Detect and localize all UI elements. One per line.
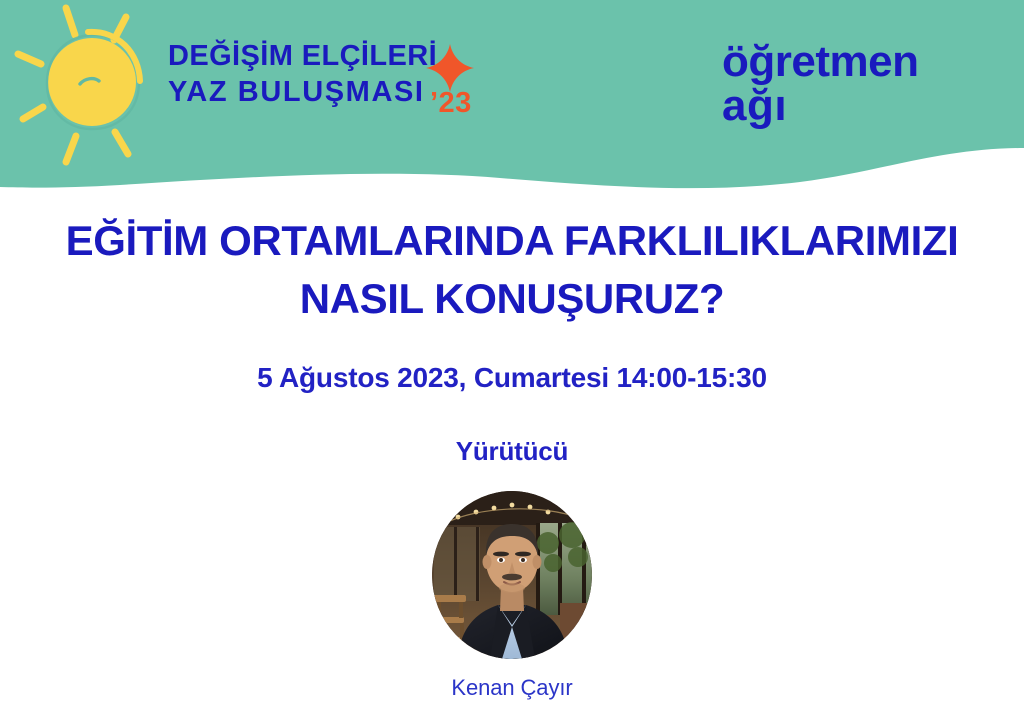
brand-logo-line-1: öğretmen <box>722 40 1002 84</box>
sun-icon <box>14 2 194 174</box>
portrait-photo <box>432 491 592 659</box>
main-content: EĞİTİM ORTAMLARINDA FARKLILIKLARIMIZI NA… <box>0 200 1024 701</box>
event-year-badge: ’23 <box>430 87 472 120</box>
event-datetime: 5 Ağustos 2023, Cumartesi 14:00-15:30 <box>0 362 1024 394</box>
facilitator-portrait <box>432 491 592 659</box>
page-title: EĞİTİM ORTAMLARINDA FARKLILIKLARIMIZI NA… <box>0 212 1024 328</box>
facilitator-label: Yürütücü <box>0 436 1024 467</box>
brand-logo: öğretmen ağı <box>722 40 1002 128</box>
header-band: DEĞİŞİM ELÇİLERİ YAZ BULUŞMASI ’23 öğret… <box>0 0 1024 200</box>
avatar <box>432 491 592 659</box>
brand-logo-line-2: ağı <box>722 84 1002 128</box>
facilitator-name: Kenan Çayır <box>0 675 1024 701</box>
event-lockup: DEĞİŞİM ELÇİLERİ YAZ BULUŞMASI ’23 <box>168 38 508 110</box>
